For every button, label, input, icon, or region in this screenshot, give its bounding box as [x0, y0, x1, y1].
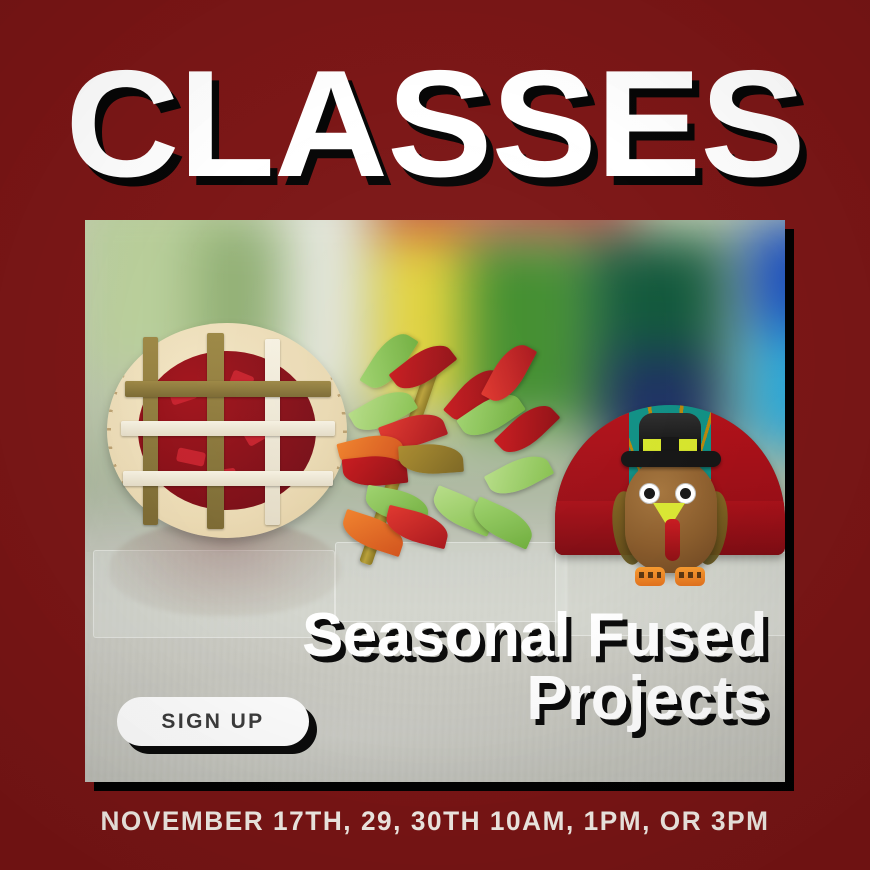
cherry-shard [176, 447, 206, 467]
turkey-eye-left [639, 483, 660, 504]
turkey-wattle [665, 519, 680, 561]
lattice-strip-horizontal [123, 471, 333, 486]
headline-line-2: Projects [207, 667, 767, 730]
pilgrim-hat-brim [621, 451, 721, 467]
lattice-strip-horizontal [121, 421, 335, 436]
turkey-foot-left [635, 567, 665, 586]
classes-promo-poster: CLASSES [0, 0, 870, 870]
glass-swatch-pink [465, 220, 635, 235]
schedule-date-text: NOVEMBER 17TH, 29, 30TH 10AM, 1PM, OR 3P… [13, 806, 857, 837]
fused-glass-pie [107, 323, 347, 538]
fused-glass-leaf-branch [347, 340, 557, 575]
turkey-eye-right [675, 483, 696, 504]
page-title: CLASSES [0, 62, 870, 186]
leaf-shard [484, 447, 555, 504]
turkey-foot-right [675, 567, 705, 586]
lattice-strip-horizontal [125, 381, 331, 397]
fused-glass-pilgrim-turkey [555, 395, 785, 625]
project-photo: Seasonal Fused Projects SIGN UP [85, 220, 785, 782]
headline-line-1: Seasonal Fused [207, 604, 767, 667]
photo-headline: Seasonal Fused Projects [207, 604, 767, 730]
leaf-shard [398, 442, 464, 476]
